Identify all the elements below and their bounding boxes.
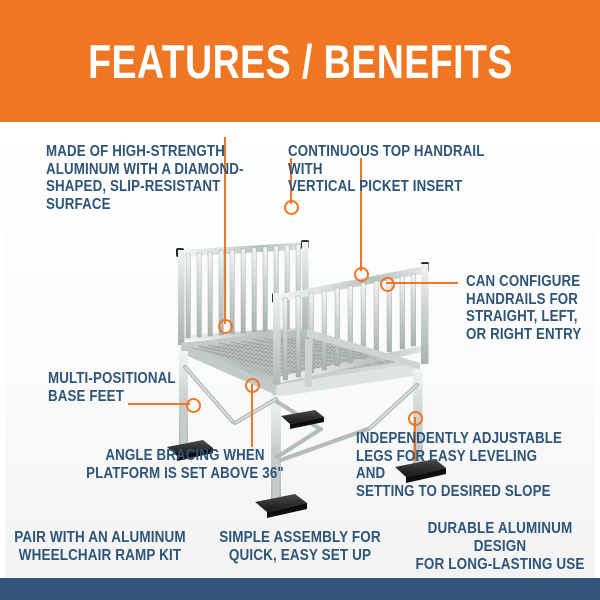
frame-right-edge <box>595 122 600 578</box>
bottom-blurb-row: PAIR WITH AN ALUMINUM WHEELCHAIR RAMP KI… <box>0 516 600 578</box>
frame-left-edge <box>0 122 5 578</box>
callout-base-feet: MULTI-POSITIONAL BASE FEET <box>48 370 203 405</box>
page-title: FEATURES / BENEFITS <box>88 38 513 85</box>
leader-marker-handrail-right <box>354 267 369 282</box>
callout-angle-bracing: ANGLE BRACING WHEN PLATFORM IS SET ABOVE… <box>78 447 293 482</box>
leader-marker-adjustable-legs <box>408 411 423 426</box>
leader-marker-material <box>218 319 233 334</box>
callout-configure: CAN CONFIGURE HANDRAILS FOR STRAIGHT, LE… <box>466 273 600 343</box>
infographic-page: FEATURES / BENEFITS <box>0 0 600 600</box>
blurb-ramp-kit: PAIR WITH AN ALUMINUM WHEELCHAIR RAMP KI… <box>13 529 187 565</box>
blurb-simple-assembly: SIMPLE ASSEMBLY FOR QUICK, EASY SET UP <box>213 529 387 565</box>
footer-bar <box>0 578 600 600</box>
leader-marker-configure <box>380 277 395 292</box>
leader-marker-angle-bracing <box>245 378 260 393</box>
callout-handrail: CONTINUOUS TOP HANDRAIL WITH VERTICAL PI… <box>288 143 513 196</box>
leader-line-configure <box>386 282 458 284</box>
leader-line-angle-bracing <box>251 384 253 447</box>
header-banner: FEATURES / BENEFITS <box>0 0 600 122</box>
callout-adjustable-legs: INDEPENDENTLY ADJUSTABLE LEGS FOR EASY L… <box>356 430 562 500</box>
callout-material: MADE OF HIGH-STRENGTH ALUMINUM WITH A DI… <box>46 143 263 213</box>
blurb-durable-design: DURABLE ALUMINUM DESIGN FOR LONG-LASTING… <box>413 520 587 574</box>
leader-marker-handrail-left <box>284 200 299 215</box>
